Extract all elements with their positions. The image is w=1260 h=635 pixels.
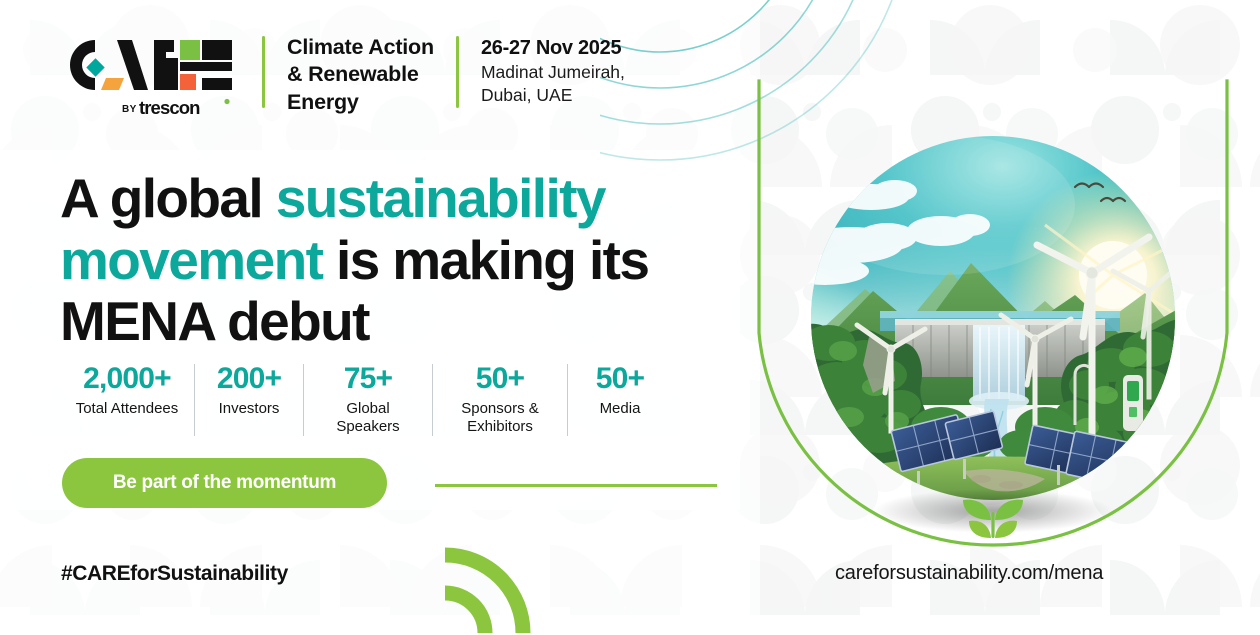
stat-item: 50+ Media <box>568 362 672 418</box>
page-title: A global sustainability movement is maki… <box>60 168 760 353</box>
stat-value: 200+ <box>197 362 301 396</box>
stat-value: 2,000+ <box>62 362 192 396</box>
headline-part-1: A global <box>60 167 276 229</box>
tagline-line-2: & Renewable <box>287 61 434 88</box>
stat-item: 50+ Sponsors & Exhibitors <box>433 362 567 436</box>
stat-item: 75+ Global Speakers <box>304 362 432 436</box>
event-venue-line-2: Dubai, UAE <box>481 84 625 107</box>
stat-label: Media <box>570 400 670 418</box>
care-wordmark-icon <box>62 36 240 94</box>
brand-header: BY trescon Climate Action & Renewable En… <box>62 34 625 117</box>
stat-label: Global Speakers <box>306 400 430 437</box>
stats-row: 2,000+ Total Attendees 200+ Investors 75… <box>60 362 672 436</box>
event-tagline: Climate Action & Renewable Energy <box>287 34 434 116</box>
hero-eco-globe <box>745 75 1235 565</box>
event-date-venue: 26-27 Nov 2025 Madinat Jumeirah, Dubai, … <box>481 34 625 107</box>
headline-highlight-1: sustainability <box>276 167 605 229</box>
header-divider-2 <box>456 36 459 108</box>
svg-text:BY: BY <box>122 104 137 115</box>
stat-label: Investors <box>197 400 301 418</box>
green-rule-divider <box>435 484 717 487</box>
ev-charger-icon <box>1123 375 1143 431</box>
be-part-of-the-momentum-button[interactable]: Be part of the momentum <box>62 458 387 508</box>
tagline-line-3: Energy <box>287 89 434 116</box>
stat-value: 50+ <box>435 362 565 396</box>
stat-item: 2,000+ Total Attendees <box>60 362 194 418</box>
stat-value: 75+ <box>306 362 430 396</box>
headline-part-3: is making its <box>322 229 648 291</box>
svg-text:trescon: trescon <box>139 97 200 117</box>
event-venue-line-1: Madinat Jumeirah, <box>481 61 625 84</box>
header-divider-1 <box>262 36 265 108</box>
headline-part-4: MENA debut <box>60 290 369 352</box>
tagline-line-1: Climate Action <box>287 34 434 61</box>
headline-highlight-2: movement <box>60 229 322 291</box>
stat-value: 50+ <box>570 362 670 396</box>
green-wifi-icon <box>443 545 563 635</box>
stat-label: Total Attendees <box>62 400 192 418</box>
stat-item: 200+ Investors <box>195 362 303 418</box>
care-logo[interactable]: BY trescon <box>62 34 240 117</box>
by-trescon-icon: BY trescon <box>122 97 234 117</box>
stat-label: Sponsors & Exhibitors <box>435 400 565 437</box>
hashtag-label: #CAREforSustainability <box>61 562 288 586</box>
event-date: 26-27 Nov 2025 <box>481 35 625 61</box>
website-url[interactable]: careforsustainability.com/mena <box>835 562 1103 585</box>
